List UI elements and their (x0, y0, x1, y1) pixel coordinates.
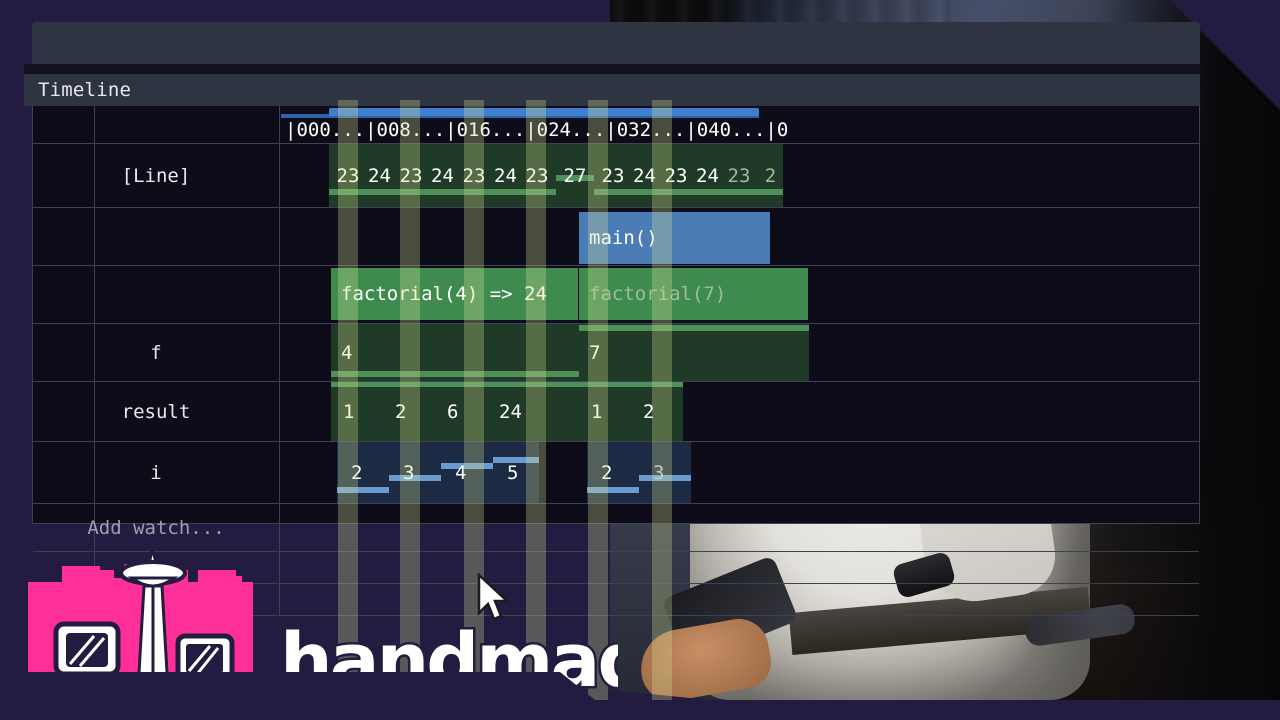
line-cell[interactable]: 23 (329, 144, 367, 207)
line-cell[interactable]: 24 (367, 144, 392, 207)
call-main-track[interactable]: main() (281, 208, 1199, 265)
line-cell-bar (518, 189, 556, 195)
var-result-track[interactable]: 1262412 (281, 382, 1199, 441)
var-f-value: 7 (589, 342, 600, 364)
line-cell[interactable]: 24 (430, 144, 455, 207)
result-cell-value: 6 (447, 401, 458, 423)
line-row: [Line] 232423242324232723242324232 (33, 144, 1199, 208)
line-cell-value: 23 (602, 165, 625, 187)
line-cell-value: 23 (665, 165, 688, 187)
result-cell-value: 1 (343, 401, 354, 423)
line-cell[interactable]: 23 (720, 144, 758, 207)
call-block-factorial-active[interactable]: factorial(7) (579, 268, 809, 320)
line-track[interactable]: 232423242324232723242324232 (281, 144, 1199, 207)
row-label-line: [Line] (33, 144, 280, 207)
call-main-row: main() (33, 208, 1199, 266)
var-f-track[interactable]: 4 7 (281, 324, 1199, 381)
line-cell[interactable]: 24 (632, 144, 657, 207)
line-cell-value: 23 (400, 165, 423, 187)
line-cell[interactable]: 23 (518, 144, 556, 207)
result-cell-bar (579, 382, 631, 387)
row-label-i: i (33, 442, 280, 503)
call-block-factorial-done[interactable]: factorial(4) => 24 (331, 268, 579, 320)
call-block-factorial-active-label: factorial(7) (589, 283, 726, 305)
line-cell-value: 23 (526, 165, 549, 187)
line-cell-bar (430, 189, 455, 195)
line-cell-value: 24 (368, 165, 391, 187)
result-cell-bar (383, 382, 435, 387)
panel-divider (24, 64, 1200, 74)
line-cell[interactable]: 23 (455, 144, 493, 207)
var-f-bar (331, 371, 579, 377)
line-cell-value: 24 (696, 165, 719, 187)
line-cell[interactable]: 23 (392, 144, 430, 207)
line-cell-bar (720, 189, 758, 195)
row-label-f: f (33, 324, 280, 381)
var-f-cell[interactable]: 4 (331, 324, 579, 381)
var-i-row: i 234523 (33, 442, 1199, 504)
var-f-value: 4 (341, 342, 352, 364)
line-cell-bar (329, 189, 367, 195)
var-result-row: result 1262412 (33, 382, 1199, 442)
debugger-window: Timeline |000...|008...|016...|024...|03… (24, 22, 1199, 522)
line-cell-value: 24 (494, 165, 517, 187)
row-label (33, 208, 280, 265)
line-cell-bar (594, 189, 632, 195)
result-cell-value: 24 (499, 401, 522, 423)
i-cell[interactable]: 4 (441, 442, 493, 503)
line-cell-value: 27 (564, 165, 587, 187)
result-cell-value: 2 (395, 401, 406, 423)
i-cell[interactable]: 5 (493, 442, 539, 503)
i-cell[interactable]: 3 (639, 442, 691, 503)
line-cell[interactable]: 23 (657, 144, 695, 207)
call-block-factorial-done-label: factorial(4) => 24 (341, 283, 547, 305)
i-cell-value: 4 (455, 462, 466, 484)
timeline-grid: |000...|008...|016...|024...|032...|040.… (32, 106, 1200, 524)
call-block-main[interactable]: main() (579, 212, 771, 264)
result-cell[interactable]: 6 (435, 382, 487, 441)
i-cell-bar (587, 487, 639, 493)
line-cell-bar (758, 189, 783, 195)
i-cell[interactable]: 3 (389, 442, 441, 503)
line-cell[interactable]: 2 (758, 144, 783, 207)
row-label-result: result (33, 382, 280, 441)
row-label (33, 266, 280, 323)
handmade-seattle-logo: handmade SEATTLE (28, 540, 618, 720)
call-factorial-track[interactable]: factorial(4) => 24 factorial(7) (281, 266, 1199, 323)
call-factorial-row: factorial(4) => 24 factorial(7) (33, 266, 1199, 324)
top-toolbar-panel (32, 22, 1200, 64)
result-cell[interactable]: 24 (487, 382, 579, 441)
i-cell-bar (639, 475, 691, 481)
line-cell-bar (493, 189, 518, 195)
var-i-track[interactable]: 234523 (281, 442, 1199, 503)
line-cell-value: 24 (431, 165, 454, 187)
i-cell-value: 3 (653, 462, 664, 484)
i-cell-bar (337, 487, 389, 493)
var-f-row: f 4 7 (33, 324, 1199, 382)
page-title: Timeline (24, 79, 131, 101)
var-f-cell[interactable]: 7 (579, 324, 809, 381)
mouse-cursor (477, 573, 513, 625)
line-cell[interactable]: 27 (556, 144, 594, 207)
logo-band (0, 672, 640, 720)
line-cell[interactable]: 23 (594, 144, 632, 207)
line-cell-bar (695, 189, 720, 195)
line-cell-bar (367, 189, 392, 195)
result-cell[interactable]: 2 (631, 382, 683, 441)
result-cell-bar (631, 382, 683, 387)
result-cell[interactable]: 2 (383, 382, 435, 441)
line-cell-value: 23 (463, 165, 486, 187)
i-cell-value: 2 (601, 462, 612, 484)
result-cell-value: 2 (643, 401, 654, 423)
i-cell-bar (389, 475, 441, 481)
line-cell[interactable]: 24 (695, 144, 720, 207)
result-cell[interactable]: 1 (331, 382, 383, 441)
line-cell-bar (455, 189, 493, 195)
line-cell-value: 24 (633, 165, 656, 187)
i-cell-value: 3 (403, 462, 414, 484)
timeline-ruler-row: |000...|008...|016...|024...|032...|040.… (33, 106, 1199, 144)
line-cell[interactable]: 24 (493, 144, 518, 207)
result-cell-value: 1 (591, 401, 602, 423)
i-cell[interactable]: 2 (337, 442, 389, 503)
screen-root: Timeline |000...|008...|016...|024...|03… (0, 0, 1280, 720)
call-block-main-label: main() (589, 227, 658, 249)
line-cell-bar (632, 189, 657, 195)
i-cell-value: 2 (351, 462, 362, 484)
row-label (33, 106, 280, 143)
i-cell-value: 5 (507, 462, 518, 484)
line-cell-bar (657, 189, 695, 195)
i-cell-bar (441, 463, 493, 469)
var-f-bar (579, 325, 809, 331)
line-cell-value: 2 (765, 165, 776, 187)
result-cell-bar (435, 382, 487, 387)
line-cell-value: 23 (728, 165, 751, 187)
line-cell-bar (392, 189, 430, 195)
result-cell-bar (487, 382, 579, 387)
ruler-track[interactable]: |000...|008...|016...|024...|032...|040.… (281, 106, 1199, 143)
result-cell[interactable]: 1 (579, 382, 631, 441)
timeline-titlebar: Timeline (24, 74, 1200, 106)
result-cell-bar (331, 382, 383, 387)
ruler-ticks: |000...|008...|016...|024...|032...|040.… (281, 106, 1199, 143)
line-cell-value: 23 (337, 165, 360, 187)
i-cell[interactable]: 2 (587, 442, 639, 503)
